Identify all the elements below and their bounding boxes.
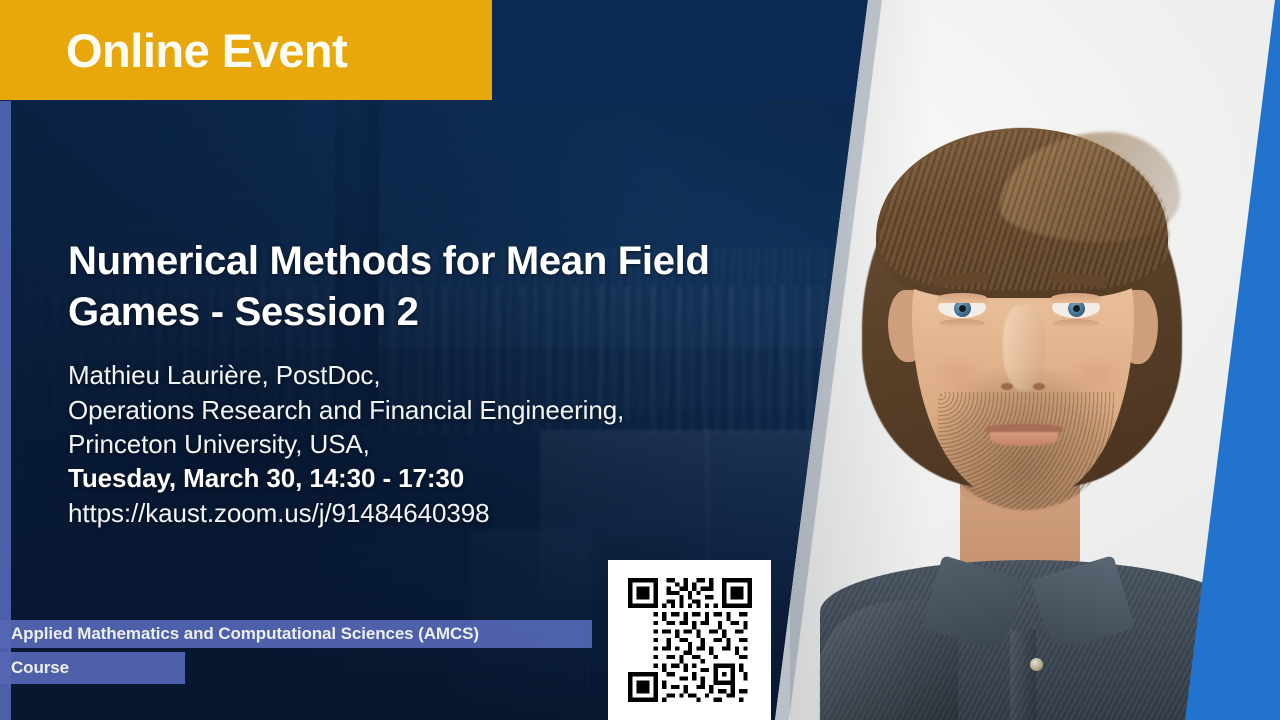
event-text-block: Numerical Methods for Mean Field Games -… — [68, 236, 768, 530]
portrait-pupil-right — [1073, 305, 1080, 312]
tag-event-type: Course — [0, 652, 185, 684]
portrait-nostril-right — [1033, 383, 1045, 390]
portrait-eyelid-left — [937, 293, 987, 303]
portrait-lower-lip — [990, 432, 1058, 446]
qr-code-icon[interactable] — [628, 578, 752, 702]
speaker-institution: Princeton University, USA, — [68, 427, 768, 461]
event-poster: Online Event Numerical Methods for Mean … — [0, 0, 1280, 720]
qr-code-panel — [608, 560, 771, 720]
portrait-shirt-button — [1030, 658, 1043, 671]
portrait-nose — [1003, 305, 1045, 391]
portrait-pupil-left — [959, 305, 966, 312]
event-details: Mathieu Laurière, PostDoc, Operations Re… — [68, 358, 768, 530]
tag-department: Applied Mathematics and Computational Sc… — [0, 620, 592, 648]
portrait-nostril-left — [1001, 383, 1013, 390]
portrait-eyelid-right — [1051, 293, 1101, 303]
portrait-undereye-left — [939, 319, 985, 328]
online-event-banner: Online Event — [0, 0, 492, 100]
event-zoom-link[interactable]: https://kaust.zoom.us/j/91484640398 — [68, 496, 768, 530]
event-title: Numerical Methods for Mean Field Games -… — [68, 236, 768, 338]
portrait-shirt-placket — [1010, 630, 1036, 720]
speaker-affiliation: Operations Research and Financial Engine… — [68, 393, 768, 427]
portrait-undereye-right — [1053, 319, 1099, 328]
speaker-name: Mathieu Laurière, PostDoc, — [68, 358, 768, 392]
event-datetime: Tuesday, March 30, 14:30 - 17:30 — [68, 461, 768, 495]
online-event-label: Online Event — [0, 27, 347, 74]
